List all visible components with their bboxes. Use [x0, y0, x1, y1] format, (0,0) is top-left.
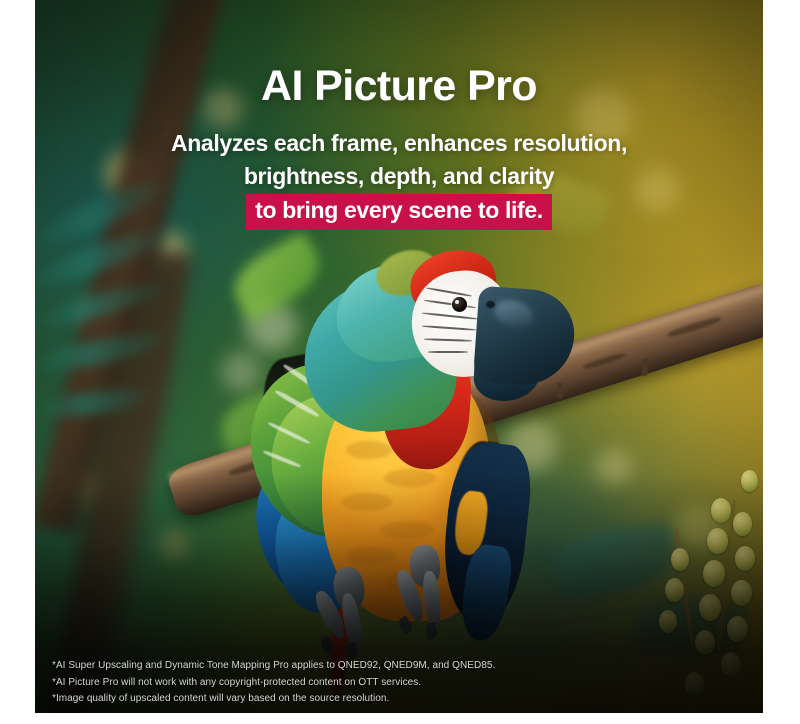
parrot-face-line: [428, 351, 468, 353]
parrot-breast-texture: [384, 469, 436, 487]
seed-pod: [721, 652, 741, 677]
hero-photo: AI Picture Pro Analyzes each frame, enha…: [35, 0, 763, 713]
seed-pod: [735, 546, 755, 571]
parrot-breast-texture: [380, 521, 434, 539]
seed-pod: [707, 528, 728, 554]
seed-pod: [665, 578, 684, 602]
parrot-eye: [452, 297, 467, 312]
parrot-breast-texture: [346, 441, 392, 459]
parrot-nostril: [486, 301, 495, 308]
parrot-breast-texture: [342, 493, 392, 511]
macaw-parrot: [250, 245, 540, 615]
seed-pod: [685, 672, 704, 696]
seed-pod: [733, 512, 752, 536]
seed-pod: [695, 630, 715, 655]
seed-pod: [727, 616, 748, 642]
seed-pod: [699, 594, 721, 621]
seed-pod: [659, 610, 677, 633]
seed-pod: [711, 498, 731, 523]
parrot-breast-texture: [346, 547, 396, 565]
seed-pod: [671, 548, 689, 571]
branch-twig: [557, 383, 564, 399]
seed-pod: [731, 580, 752, 606]
parrot-eye-glint: [455, 300, 459, 304]
seed-pod: [741, 470, 758, 492]
promo-banner: AI Picture Pro Analyzes each frame, enha…: [0, 0, 800, 724]
seed-pod: [703, 560, 725, 587]
